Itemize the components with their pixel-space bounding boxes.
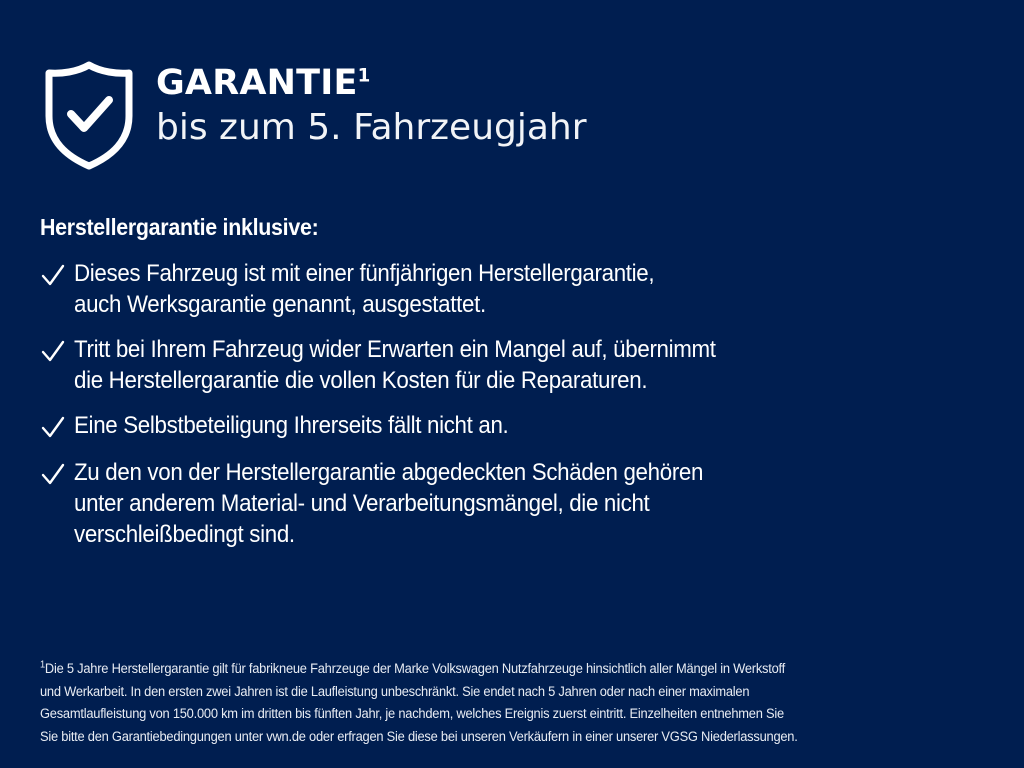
header: GARANTIE1 bis zum 5. Fahrzeugjahr — [40, 55, 587, 171]
check-icon — [40, 460, 66, 490]
content-block: Herstellergarantie inklusive: Dieses Fah… — [40, 212, 970, 550]
footnote-line: 1Die 5 Jahre Herstellergarantie gilt für… — [40, 658, 949, 681]
list-item: Eine Selbstbeteiligung Ihrerseits fällt … — [40, 410, 970, 443]
footnote: 1Die 5 Jahre Herstellergarantie gilt für… — [40, 658, 992, 748]
footnote-line: Sie bitte den Garantiebedingungen unter … — [40, 726, 949, 749]
shield-check-icon — [40, 59, 138, 171]
list-item: Tritt bei Ihrem Fahrzeug wider Erwarten … — [40, 334, 970, 396]
page-title: GARANTIE1 — [156, 63, 587, 103]
list-item-text: Tritt bei Ihrem Fahrzeug wider Erwarten … — [74, 334, 716, 396]
list-item-text: Dieses Fahrzeug ist mit einer fünfjährig… — [74, 258, 654, 320]
footnote-line: Gesamtlaufleistung von 150.000 km im dri… — [40, 703, 949, 726]
check-icon — [40, 337, 66, 367]
list-item-text: Eine Selbstbeteiligung Ihrerseits fällt … — [74, 410, 508, 441]
check-icon — [40, 261, 66, 291]
header-text: GARANTIE1 bis zum 5. Fahrzeugjahr — [156, 55, 587, 151]
list-item: Zu den von der Herstellergarantie abgede… — [40, 457, 970, 550]
lead-heading: Herstellergarantie inklusive: — [40, 212, 905, 242]
page-title-footnote-marker: 1 — [358, 65, 371, 86]
benefits-list: Dieses Fahrzeug ist mit einer fünfjährig… — [40, 258, 970, 550]
page-title-text: GARANTIE — [156, 63, 358, 103]
footnote-line-text: Die 5 Jahre Herstellergarantie gilt für … — [45, 661, 785, 676]
list-item: Dieses Fahrzeug ist mit einer fünfjährig… — [40, 258, 970, 320]
list-item-text: Zu den von der Herstellergarantie abgede… — [74, 457, 703, 550]
check-icon — [40, 413, 66, 443]
footnote-line: und Werkarbeit. In den ersten zwei Jahre… — [40, 681, 949, 704]
warranty-slide: GARANTIE1 bis zum 5. Fahrzeugjahr Herste… — [0, 0, 1024, 768]
page-subtitle: bis zum 5. Fahrzeugjahr — [156, 105, 587, 151]
